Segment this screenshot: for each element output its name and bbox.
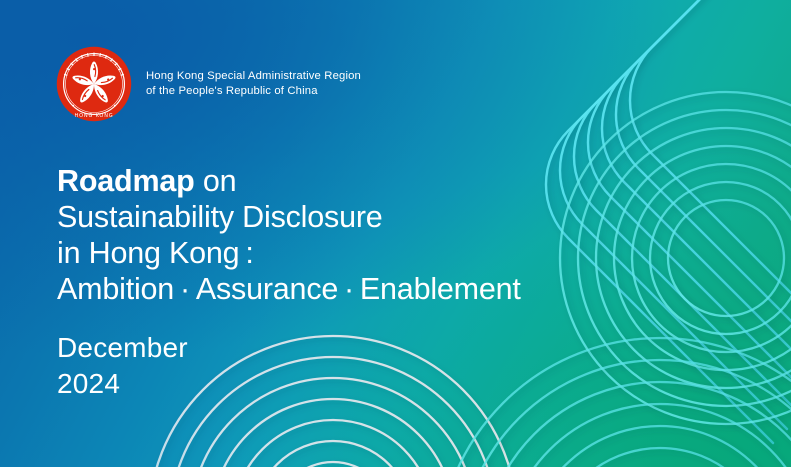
title-line-1: Roadmap on <box>57 163 521 199</box>
cover-date: December 2024 <box>57 330 188 402</box>
svg-text:HONG KONG: HONG KONG <box>75 113 114 119</box>
date-year: 2024 <box>57 366 188 402</box>
title-line-1-rest: on <box>195 164 237 198</box>
cover-header: HONG KONG <box>56 46 361 122</box>
title-line-3: in Hong Kong : <box>57 235 521 271</box>
org-name-line-2: of the People's Republic of China <box>146 84 361 100</box>
cover-title: Roadmap on Sustainability Disclosure in … <box>57 163 521 307</box>
organisation-name: Hong Kong Special Administrative Region … <box>146 69 361 100</box>
hksar-regional-emblem-icon: HONG KONG <box>56 46 132 122</box>
title-line-2: Sustainability Disclosure <box>57 199 521 235</box>
report-cover: HONG KONG <box>0 0 791 467</box>
title-line-4: Ambition · Assurance · Enablement <box>57 271 521 307</box>
date-month: December <box>57 330 188 366</box>
title-keyword: Roadmap <box>57 164 195 198</box>
org-name-line-1: Hong Kong Special Administrative Region <box>146 69 361 85</box>
